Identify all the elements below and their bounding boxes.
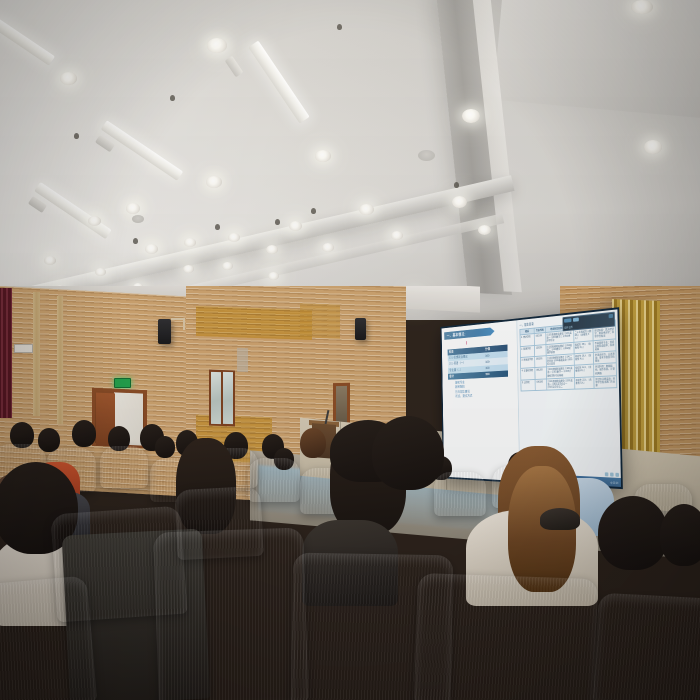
sprinkler-head	[454, 182, 459, 188]
ceiling-downlight	[183, 265, 194, 273]
ceiling-downlight	[222, 262, 233, 270]
ceiling-downlight	[452, 196, 467, 208]
total-value: 500	[484, 370, 508, 378]
auditorium-seat-front[interactable]	[414, 573, 598, 700]
cell-department: 4. 计算机学院	[521, 368, 536, 380]
slide-score-table: 科目 分值 101-思想政治理论 100 201-英语（一） 100	[448, 345, 508, 380]
cast-toolbar-label: 投屏 设置	[564, 325, 572, 330]
ceiling-downlight	[462, 109, 480, 123]
ceiling-vent	[132, 215, 144, 223]
ceiling-downlight	[88, 216, 101, 226]
wall-notice-panel	[237, 348, 248, 372]
ceiling-downlight	[266, 245, 278, 254]
ceiling-downlight	[126, 203, 140, 214]
settings-icon[interactable]	[573, 317, 579, 321]
auditorium-seat[interactable]	[434, 472, 486, 516]
ceiling-downlight	[44, 256, 56, 265]
ceiling-vent	[418, 150, 435, 161]
sprinkler-head	[337, 24, 342, 30]
sprinkler-head	[170, 95, 175, 101]
slide-notes: 报考专业 报考院校 历年招生情况 初试、复试方式	[455, 380, 472, 399]
ceiling-downlight	[145, 244, 158, 254]
maroon-curtain	[0, 288, 12, 418]
cell-quota: 拟招生 22人 （含推免 5人）	[574, 376, 594, 389]
lecture-hall-photo: 一、基本情况: 科目 分值 101-思想政治理论 100	[0, 0, 700, 700]
cell-major-code: 081200	[535, 367, 546, 379]
ceiling-downlight	[228, 233, 240, 242]
cell-major-code: 120201	[535, 344, 546, 356]
sprinkler-head	[311, 208, 316, 214]
cell-subjects: ①101思想政治理论 ②201英语一 ③621法学综合一 ④821法学综合二	[546, 377, 574, 390]
total-label: 总计	[448, 372, 484, 380]
wall-speaker	[158, 319, 171, 344]
ceiling-downlight	[206, 176, 222, 188]
hair-clip	[540, 508, 580, 530]
audience-head	[660, 504, 700, 566]
auditorium-seat-front[interactable]	[0, 575, 97, 700]
cast-icon[interactable]	[564, 318, 571, 323]
ceiling-downlight	[60, 72, 77, 85]
ceiling-downlight	[289, 221, 302, 231]
exit-sign-icon	[114, 378, 131, 388]
ceiling-downlight	[644, 140, 662, 154]
audience-head-front	[372, 416, 444, 490]
ceiling-downlight	[95, 268, 106, 276]
wall-speaker	[355, 318, 366, 340]
auditorium-seat[interactable]	[100, 446, 148, 488]
cell-remarks: 复试科目：数据结构、操作系统、计算机网络	[594, 363, 617, 376]
ceiling-downlight	[315, 150, 331, 162]
wall-accent-panel	[300, 303, 340, 338]
cell-major-code: 020101	[534, 333, 545, 345]
audience-head	[300, 428, 326, 458]
close-icon[interactable]	[609, 314, 613, 318]
cell-remarks: 复试含法律英语；同等学力加试两门专业课	[594, 375, 617, 388]
ceiling-downlight	[207, 38, 227, 53]
cell-quota: 拟招生 42人 （含推免12人）	[574, 364, 594, 377]
auditorium-seat-front[interactable]	[593, 593, 700, 700]
audience-head	[155, 436, 175, 458]
cell-department: 5. 法学院	[521, 379, 536, 391]
slide-marker	[466, 341, 467, 344]
audience-head	[72, 420, 96, 447]
audience-head	[598, 496, 668, 570]
wall-switch-plate[interactable]	[14, 344, 33, 353]
sprinkler-head	[74, 133, 79, 139]
audience-area	[0, 400, 700, 700]
cell-department: 3. 外国语学院	[520, 356, 535, 368]
slide-banner-title: 一、基本情况:	[447, 331, 466, 338]
ceiling-downlight	[322, 243, 334, 252]
ceiling-downlight	[478, 225, 491, 235]
speaker-conduit	[183, 318, 185, 330]
ceiling-downlight	[631, 0, 653, 14]
cell-major-code: 030100	[535, 379, 546, 391]
slide-note-line: 初试、复试方式	[455, 394, 472, 399]
wall-pillar	[33, 292, 40, 416]
ceiling-downlight	[184, 238, 196, 247]
auditorium-seat[interactable]	[174, 486, 264, 560]
wall-accent-panel	[196, 306, 312, 340]
cell-major-code: 050201	[535, 356, 546, 368]
slide-banner: 一、基本情况:	[444, 327, 494, 340]
sprinkler-head	[275, 219, 280, 225]
ceiling-downlight	[268, 272, 279, 280]
ceiling-downlight	[359, 204, 374, 215]
sprinkler-head	[215, 224, 220, 230]
sprinkler-head	[133, 238, 138, 244]
ceiling-downlight	[391, 231, 403, 240]
